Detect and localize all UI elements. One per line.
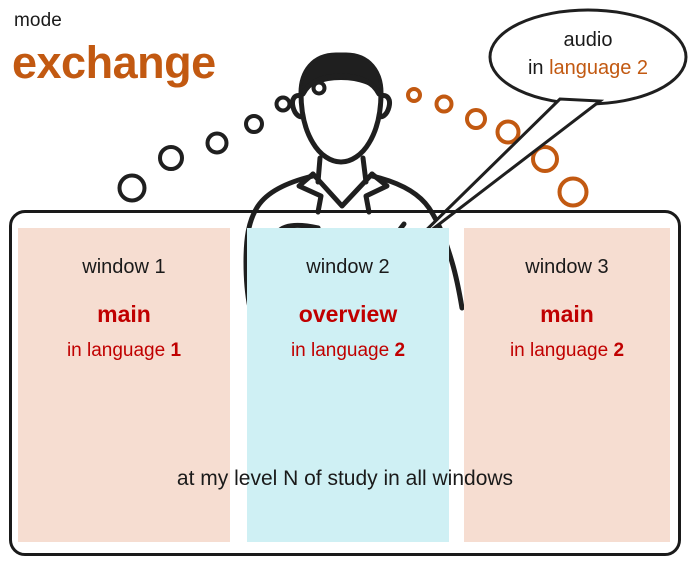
window-2-language: in language 2 xyxy=(247,339,449,363)
window-column-3-content: window 3 main in language 2 xyxy=(464,254,670,363)
window-3-language: in language 2 xyxy=(464,339,670,363)
bubble-black-1 xyxy=(120,176,145,201)
bubble-orange-2 xyxy=(437,97,452,112)
window-column-1[interactable]: window 1 main in language 1 xyxy=(18,228,230,542)
window-3-language-number: 2 xyxy=(613,340,624,361)
bubble-black-2 xyxy=(160,147,182,169)
window-3-name: window 3 xyxy=(464,254,670,280)
speech-bubble-text: audio in language 2 xyxy=(500,26,676,82)
bubble-black-6 xyxy=(314,83,325,94)
bubble-orange-3 xyxy=(467,110,485,128)
window-1-name: window 1 xyxy=(18,254,230,280)
bubble-orange-5 xyxy=(533,147,557,171)
speech-bubble-line-2-prefix: in xyxy=(528,57,549,79)
bubble-orange-6 xyxy=(560,179,587,206)
window-1-language: in language 1 xyxy=(18,339,230,363)
window-2-kind: overview xyxy=(247,300,449,328)
bubble-orange-1 xyxy=(408,89,420,101)
window-1-kind: main xyxy=(18,300,230,328)
windows-columns: window 1 main in language 1 window 2 ove… xyxy=(9,228,681,542)
window-3-language-prefix: in language xyxy=(510,340,614,361)
bubble-black-4 xyxy=(246,116,262,132)
illustration-canvas: mode exchange xyxy=(0,0,694,564)
bubble-cluster-left xyxy=(120,83,325,201)
window-column-1-content: window 1 main in language 1 xyxy=(18,254,230,363)
bubble-black-3 xyxy=(208,134,227,153)
speech-bubble-line-2: in language 2 xyxy=(500,54,676,82)
bubble-orange-4 xyxy=(498,122,519,143)
bubble-black-5 xyxy=(277,98,290,111)
window-2-language-number: 2 xyxy=(394,340,405,361)
window-2-name: window 2 xyxy=(247,254,449,280)
window-2-language-prefix: in language xyxy=(291,340,395,361)
mode-title: exchange xyxy=(12,37,216,89)
bubble-cluster-right xyxy=(408,89,587,206)
window-3-kind: main xyxy=(464,300,670,328)
window-column-2[interactable]: window 2 overview in language 2 xyxy=(247,228,449,542)
window-1-language-number: 1 xyxy=(170,340,181,361)
mode-label: mode xyxy=(14,10,62,32)
window-1-language-prefix: in language xyxy=(67,340,171,361)
window-column-2-content: window 2 overview in language 2 xyxy=(247,254,449,363)
speech-bubble-line-2-highlight: language 2 xyxy=(549,57,648,79)
speech-bubble-line-1: audio xyxy=(500,26,676,54)
window-column-3[interactable]: window 3 main in language 2 xyxy=(464,228,670,542)
panel-footnote: at my level N of study in all windows xyxy=(9,466,681,492)
